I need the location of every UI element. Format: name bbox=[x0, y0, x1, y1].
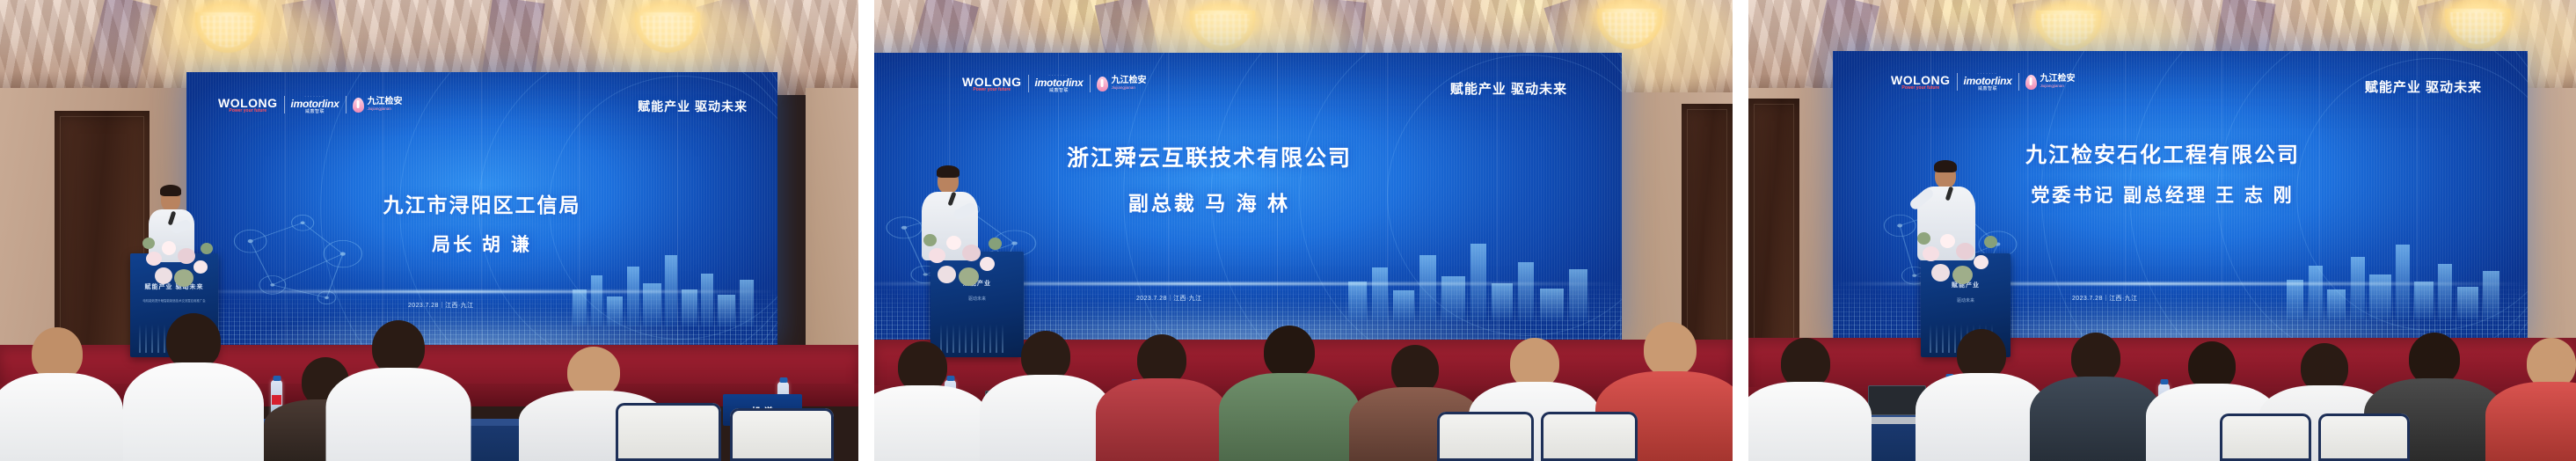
audience-member bbox=[1219, 341, 1360, 461]
photo-panel-1: WOLONG Power your future ······· imotorl… bbox=[0, 0, 858, 461]
imotorlinx-name: imotorlinx bbox=[1035, 77, 1084, 89]
chandelier-icon bbox=[1578, 0, 1682, 58]
speaker-hair bbox=[937, 165, 960, 178]
audience-body bbox=[1748, 382, 1872, 461]
audience-chair bbox=[2318, 413, 2410, 461]
slide-tagline: 赋能产业 驱动未来 bbox=[1450, 79, 1567, 98]
audience-chair bbox=[730, 408, 834, 461]
audience-chair bbox=[616, 403, 721, 461]
audience-body bbox=[980, 375, 1112, 461]
audience-body bbox=[2030, 377, 2162, 461]
audience-area bbox=[1748, 294, 2576, 461]
jiujiang-pinyin: Jiujiangjianan bbox=[2040, 84, 2076, 89]
logo-divider bbox=[2018, 73, 2019, 91]
audience-body bbox=[0, 373, 123, 461]
audience-body bbox=[1096, 378, 1228, 461]
logo-row: WOLONG Power your future ······· imotorl… bbox=[1891, 72, 2076, 91]
jiujiang-mark-icon bbox=[353, 98, 364, 113]
jiujiang-logo: 九江检安 Jiujiangjianan bbox=[1097, 77, 1147, 91]
decor-light-sweep bbox=[186, 290, 777, 293]
imotorlinx-cn: 威廒智联 bbox=[1049, 89, 1069, 93]
slide-tagline: 赋能产业 驱动未来 bbox=[638, 98, 748, 115]
photo-collage: WOLONG Power your future ······· imotorl… bbox=[0, 0, 2576, 461]
audience-member bbox=[980, 345, 1112, 461]
audience-body bbox=[325, 368, 471, 461]
audience-member bbox=[325, 336, 471, 461]
jiujiang-logo: 九江检安 Jiujiangjianan bbox=[2025, 75, 2076, 90]
wolong-tagline: Power your future bbox=[973, 88, 1011, 92]
logo-divider bbox=[1957, 73, 1958, 91]
wolong-tagline: Power your future bbox=[229, 109, 266, 113]
flower-arrangement bbox=[139, 230, 223, 292]
audience-member bbox=[2030, 347, 2162, 461]
imotorlinx-cn: 威廒智联 bbox=[1978, 87, 1997, 91]
photo-panel-3: WOLONG Power your future ······· imotorl… bbox=[1748, 0, 2576, 461]
flower-arrangement bbox=[922, 227, 1013, 292]
audience-body bbox=[1219, 373, 1360, 461]
imotorlinx-logo: ······· imotorlinx 威廒智联 bbox=[1964, 72, 2012, 91]
speaker-hair bbox=[160, 185, 181, 196]
audience-chair bbox=[1437, 412, 1534, 461]
slide-tagline: 赋能产业 驱动未来 bbox=[2365, 77, 2482, 96]
photo-panel-2: WOLONG Power your future ······· imotorl… bbox=[874, 0, 1733, 461]
audience-member bbox=[2485, 352, 2576, 461]
audience-body bbox=[1916, 373, 2047, 461]
audience-head bbox=[2409, 333, 2460, 385]
jiujiang-pinyin: Jiujiangjianan bbox=[1112, 86, 1147, 91]
slide-title: 九江市浔阳区工信局 bbox=[186, 188, 777, 218]
audience-head bbox=[32, 327, 83, 380]
chandelier-icon bbox=[2426, 0, 2529, 58]
logo-row: WOLONG Power your future ······· imotorl… bbox=[962, 74, 1147, 93]
audience-member bbox=[874, 357, 989, 461]
jiujiang-mark-icon bbox=[2025, 75, 2037, 90]
jiujiang-logo: 九江检安 Jiujiangjianan bbox=[353, 98, 403, 113]
jiujiang-pinyin: Jiujiangjianan bbox=[368, 107, 403, 112]
flower-arrangement bbox=[1916, 225, 2009, 292]
imotorlinx-cn: 威廒智联 bbox=[305, 110, 325, 114]
jiujiang-text: 九江检安 Jiujiangjianan bbox=[2040, 75, 2076, 88]
audience-area bbox=[874, 294, 1733, 461]
jiujiang-text: 九江检安 Jiujiangjianan bbox=[368, 98, 403, 111]
wolong-logo: WOLONG Power your future bbox=[1891, 74, 1951, 91]
audience-member bbox=[123, 329, 264, 461]
slide-title: 浙江舜云互联技术有限公司 bbox=[874, 141, 1622, 172]
jiujiang-mark-icon bbox=[1097, 77, 1108, 91]
ceiling-beam bbox=[84, 0, 157, 99]
panel-gap bbox=[1733, 0, 1748, 461]
audience-body bbox=[874, 385, 989, 461]
panel-gap bbox=[858, 0, 874, 461]
audience-member bbox=[1916, 341, 2047, 461]
wolong-name: WOLONG bbox=[218, 97, 278, 109]
chandelier-icon bbox=[176, 0, 280, 62]
wolong-tagline: Power your future bbox=[1901, 86, 1939, 91]
audience-body bbox=[123, 362, 264, 461]
chandelier-icon bbox=[616, 0, 719, 62]
jiujiang-text: 九江检安 Jiujiangjianan bbox=[1112, 77, 1147, 90]
audience-head bbox=[1644, 322, 1697, 377]
wolong-name: WOLONG bbox=[962, 76, 1022, 88]
imotorlinx-logo: ······· imotorlinx 威廒智联 bbox=[1035, 74, 1084, 93]
imotorlinx-logo: ······· imotorlinx 威廒智联 bbox=[291, 95, 339, 114]
speaker-hair bbox=[1934, 160, 1957, 172]
logo-row: WOLONG Power your future ······· imotorl… bbox=[218, 95, 403, 114]
audience-member bbox=[0, 342, 123, 461]
audience-chair bbox=[2220, 413, 2311, 461]
logo-divider bbox=[1090, 75, 1091, 92]
audience-member bbox=[1096, 348, 1228, 461]
wolong-logo: WOLONG Power your future bbox=[962, 76, 1022, 92]
wolong-name: WOLONG bbox=[1891, 74, 1951, 86]
audience-head bbox=[166, 313, 221, 370]
audience-area: 胡 谦 bbox=[0, 294, 858, 461]
imotorlinx-name: imotorlinx bbox=[291, 99, 339, 110]
logo-divider bbox=[346, 96, 347, 113]
wolong-logo: WOLONG Power your future bbox=[218, 97, 278, 113]
slide-subtitle: 副总裁 马 海 林 bbox=[874, 187, 1622, 216]
audience-member bbox=[1748, 352, 1872, 461]
logo-divider bbox=[284, 96, 285, 113]
slide-subtitle: 局长 胡 谦 bbox=[186, 230, 777, 257]
audience-body bbox=[2485, 382, 2576, 461]
imotorlinx-name: imotorlinx bbox=[1964, 76, 2012, 87]
audience-head bbox=[372, 320, 425, 375]
audience-chair bbox=[1541, 412, 1638, 461]
audience-head bbox=[1264, 326, 1315, 378]
logo-divider bbox=[1028, 75, 1029, 92]
